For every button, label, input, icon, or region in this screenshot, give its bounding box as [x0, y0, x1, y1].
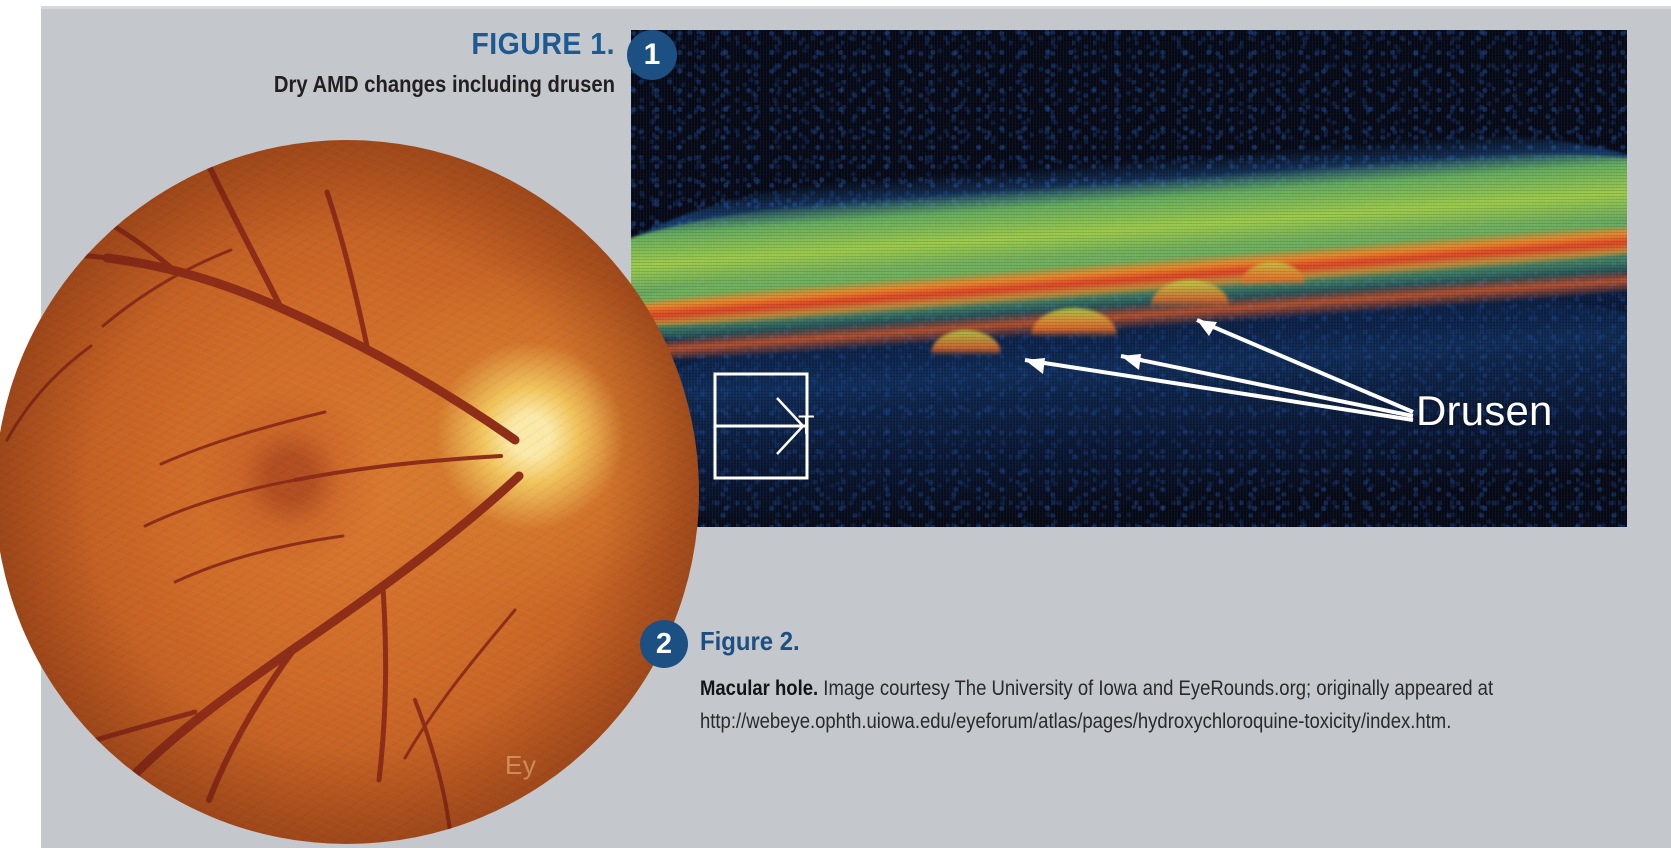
- vessel-inf-branch-4: [63, 776, 133, 844]
- figure1-oct-image: Drusen T: [631, 30, 1627, 527]
- figure2-fundus-image: [0, 140, 699, 844]
- orientation-marker-t: T: [798, 412, 815, 439]
- figure2-title: Figure 2.: [700, 628, 800, 654]
- figure1-label: FIGURE 1.: [178, 28, 615, 59]
- drusen-arrow-3-head: [1025, 358, 1045, 374]
- drusen-arrow-2-head: [1121, 354, 1141, 370]
- figure1-badge: 1: [627, 30, 677, 80]
- figure2-caption-line-1-text: Image courtesy The University of Iowa an…: [818, 676, 1493, 700]
- figure1-subtitle: Dry AMD changes including drusen: [197, 73, 615, 96]
- figure2-caption-lead: Macular hole.: [700, 676, 818, 700]
- oct-annotation-overlay: [631, 30, 1627, 527]
- figure-panel-page: Drusen T FIGURE 1. Dry AMD changes inclu…: [0, 0, 1671, 848]
- figure2-caption-line-1: Macular hole. Image courtesy The Univers…: [700, 672, 1526, 705]
- drusen-arrow-1-shaft: [1197, 320, 1413, 412]
- drusen-label: Drusen: [1416, 390, 1553, 432]
- panel-top-highlight: [41, 6, 1671, 9]
- drusen-arrow-3-shaft: [1025, 360, 1413, 420]
- figure2-badge: 2: [640, 620, 688, 668]
- drusen-arrow-group: [1025, 320, 1413, 420]
- figure1-header: FIGURE 1. Dry AMD changes including drus…: [140, 28, 615, 96]
- drusen-arrow-2-shaft: [1121, 356, 1413, 416]
- figure2-caption-line-2: http://webeye.ophth.uiowa.edu/eyeforum/a…: [700, 705, 1526, 738]
- fundus-watermark: Ey: [505, 750, 536, 781]
- fundus-vignette: [0, 140, 699, 844]
- figure2-caption: Macular hole. Image courtesy The Univers…: [700, 672, 1526, 738]
